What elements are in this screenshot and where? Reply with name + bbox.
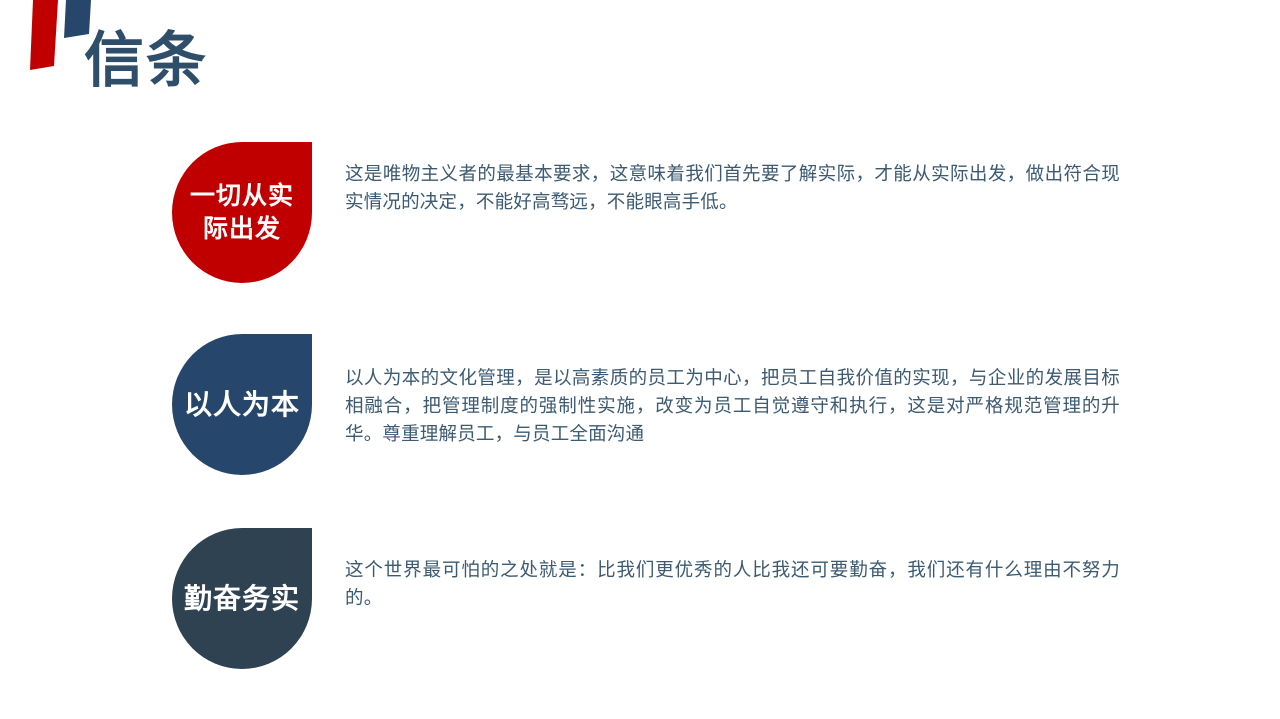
badge-one-shape: 一切从实际出发 [172,142,312,283]
badge-three-shape: 勤奋务实 [172,528,312,669]
page-title: 信条 [84,26,208,96]
creed-body-three: 这个世界最可怕的之处就是：比我们更优秀的人比我还可要勤奋，我们还有什么理由不努力… [345,556,1120,612]
creed-body-two: 以人为本的文化管理，是以高素质的员工为中心，把员工自我价值的实现，与企业的发展目… [345,364,1120,448]
badge-one-label: 一切从实际出发 [172,180,312,246]
badge-two-shape: 以人为本 [172,334,312,475]
badge-three-label: 勤奋务实 [176,582,308,615]
creed-body-one: 这是唯物主义者的最基本要求，这意味着我们首先要了解实际，才能从实际出发，做出符合… [345,160,1120,216]
badge-two-label: 以人为本 [176,388,308,421]
flag-red-bar [30,0,58,70]
